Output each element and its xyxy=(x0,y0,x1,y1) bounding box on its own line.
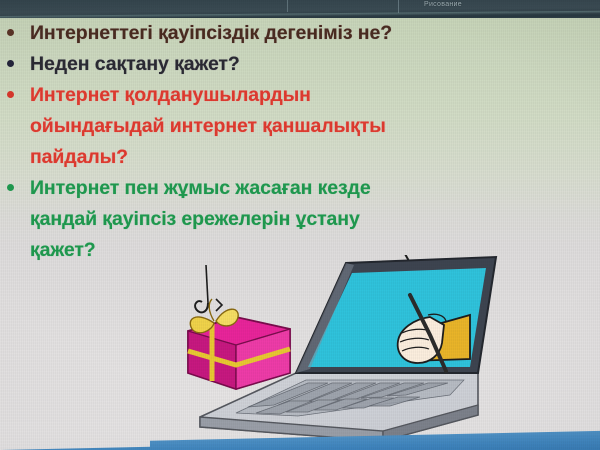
bullet-text: Интернет пен жұмыс жасаған кезде қандай … xyxy=(30,173,600,266)
bullet-text: Интернет қолданушылардын ойындағыдай инт… xyxy=(30,80,600,173)
list-item: Интернет пен жұмыс жасаған кезде қандай … xyxy=(0,173,600,266)
ribbon-divider-left xyxy=(287,0,288,12)
bullet-text: Неден сақтану қажет? xyxy=(30,49,600,80)
ribbon-tab-drawing[interactable]: Рисование xyxy=(424,1,462,8)
bullet-dot-icon xyxy=(7,60,14,67)
fishing-hook xyxy=(195,265,222,312)
bullet-dot-icon xyxy=(7,91,14,98)
list-item: Интернеттегі қауіпсіздік дегеніміз не? xyxy=(0,18,600,49)
slide-bullet-list: Интернеттегі қауіпсіздік дегеніміз не? Н… xyxy=(0,18,600,266)
desk-strip-left-mask xyxy=(0,419,150,450)
slide-photo-stage: Рисование Интернеттегі қауіпсіздік деген… xyxy=(0,0,600,450)
phishing-laptop-illustration xyxy=(178,255,600,450)
bullet-text: Интернеттегі қауіпсіздік дегеніміз не? xyxy=(30,18,600,49)
bullet-dot-icon xyxy=(7,184,14,191)
list-item: Неден сақтану қажет? xyxy=(0,49,600,80)
bullet-dot-icon xyxy=(7,29,14,36)
ribbon-divider-right xyxy=(398,0,399,13)
list-item: Интернет қолданушылардын ойындағыдай инт… xyxy=(0,80,600,173)
